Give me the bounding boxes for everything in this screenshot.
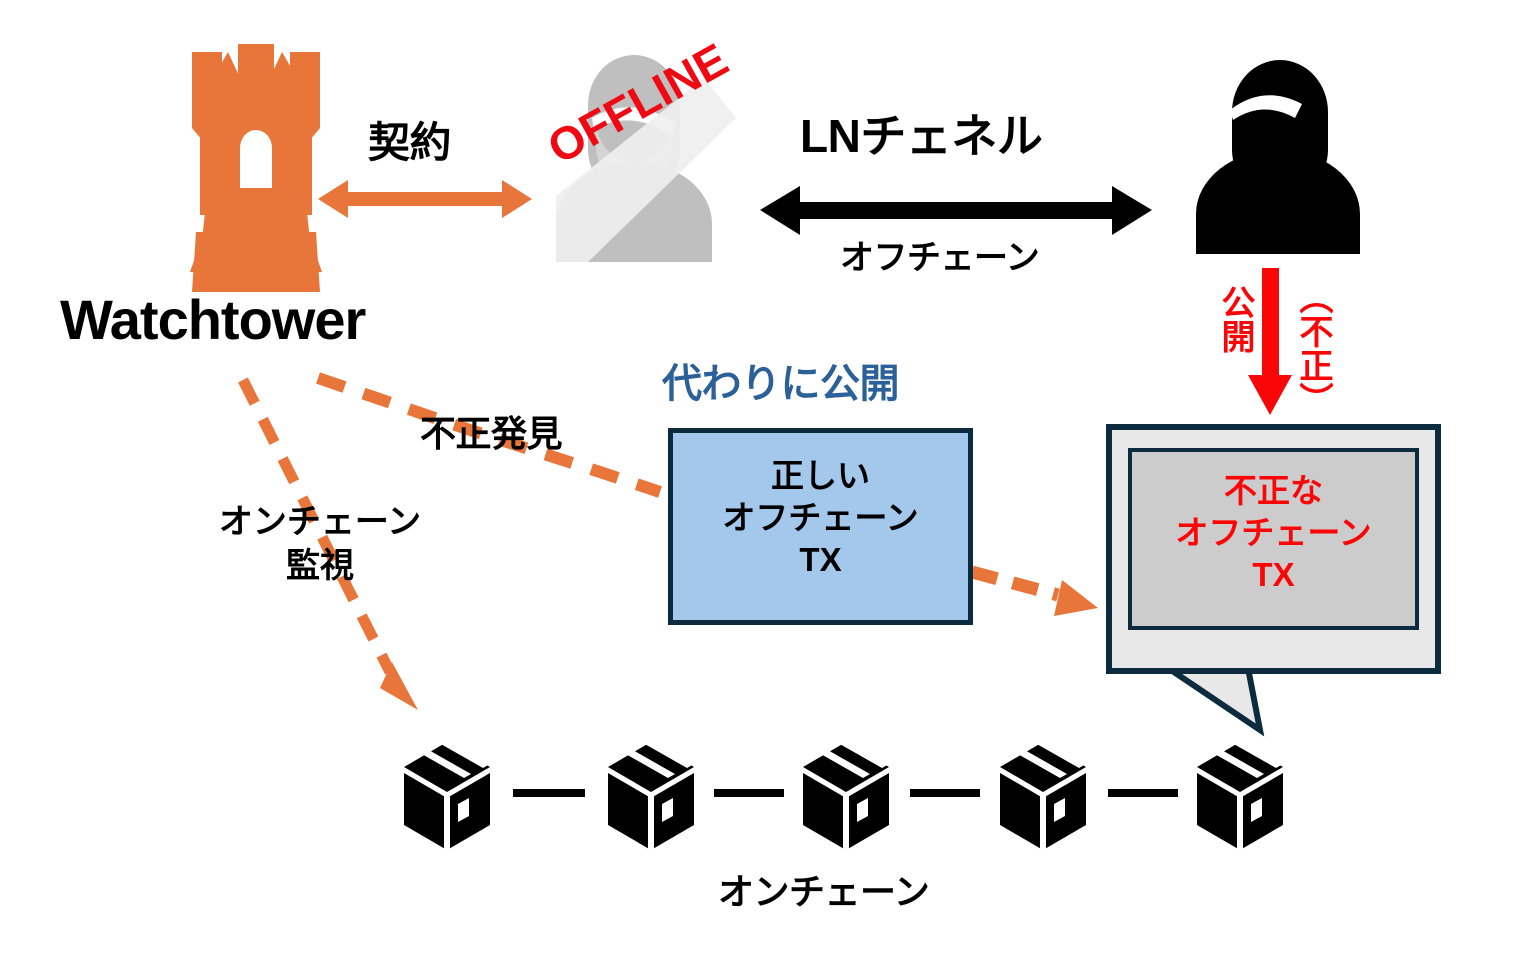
onchain-watch-label: オンチェーン監視 — [195, 500, 445, 588]
replace-arrow — [972, 572, 1098, 616]
valid-tx-label: 正しいオフチェーンTX — [668, 455, 973, 582]
publish-vertical-label: 公開 — [1218, 285, 1252, 353]
ln-channel-arrow — [760, 186, 1152, 235]
offchain-label: オフチェーン — [840, 240, 1039, 277]
fraud-tx-label: 不正なオフチェーンTX — [1128, 470, 1419, 597]
onchain-bottom-label: オンチェーン — [718, 873, 929, 912]
blockchain-blocks — [404, 739, 1283, 850]
contract-arrow — [318, 180, 532, 218]
alt-publish-label: 代わりに公開 — [662, 363, 899, 406]
fraud-found-label: 不正発見 — [420, 415, 562, 454]
offline-stamp-label: OFFLINE — [540, 35, 736, 174]
diagram-canvas: 不正なオフチェーンTX 正しいオフチェーンTX Watchtower 契約 OF… — [0, 0, 1528, 958]
contract-label: 契約 — [368, 120, 451, 165]
watchtower-label: Watchtower — [60, 290, 365, 350]
publish-fraud-arrow — [1248, 268, 1292, 415]
tower-icon — [190, 44, 322, 292]
fraud-vertical-label: （不正） — [1296, 280, 1330, 416]
person-icon — [1196, 60, 1360, 254]
ln-channel-label: LNチェネル — [800, 112, 1042, 162]
